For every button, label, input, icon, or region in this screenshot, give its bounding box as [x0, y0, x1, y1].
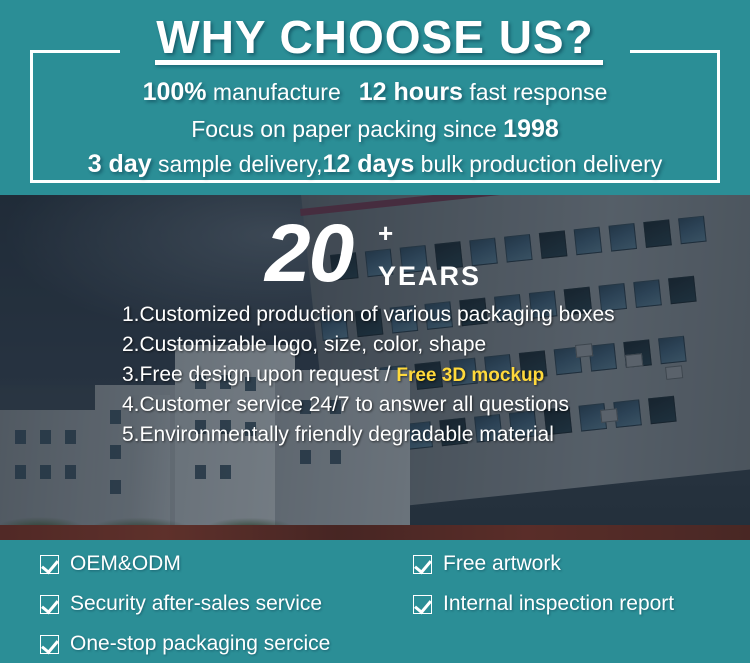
- feature-item: 4.Customer service 24/7 to answer all qu…: [122, 390, 615, 420]
- feature-item: 5.Environmentally friendly degradable ma…: [122, 420, 615, 450]
- why-choose-us-banner: WHY CHOOSE US? 100% manufacture12 hours …: [0, 0, 750, 663]
- checklist-item-label: OEM&ODM: [70, 552, 181, 576]
- check-icon: [40, 635, 59, 654]
- page-title: WHY CHOOSE US?: [0, 10, 750, 64]
- header-line3-part1: 3 day: [88, 150, 152, 178]
- check-icon: [40, 595, 59, 614]
- header-line1-part4: fast response: [463, 79, 607, 105]
- check-icon: [40, 555, 59, 574]
- title-underline: [155, 60, 603, 65]
- checklist: OEM&ODM Security after-sales service One…: [0, 540, 750, 663]
- feature-item: 2.Customizable logo, size, color, shape: [122, 330, 615, 360]
- header-line2-part2: 1998: [503, 115, 559, 143]
- feature-item-text: 3.Free design upon request /: [122, 363, 396, 386]
- feature-highlight-3d-mockup: Free 3D mockup: [396, 365, 544, 386]
- header-line-2: Focus on paper packing since 1998: [0, 115, 750, 144]
- checklist-item: Internal inspection report: [413, 592, 674, 616]
- feature-list: 1.Customized production of various packa…: [122, 300, 615, 450]
- header-line1-part3: 12 hours: [359, 78, 463, 106]
- footer-section: OEM&ODM Security after-sales service One…: [0, 540, 750, 663]
- checklist-item-label: Internal inspection report: [443, 592, 674, 616]
- checklist-item: Free artwork: [413, 552, 561, 576]
- checklist-item: One-stop packaging sercice: [40, 632, 330, 656]
- header-line3-part4: bulk production delivery: [414, 151, 662, 177]
- factory-photo-section: 20 + YEARS 1.Customized production of va…: [0, 195, 750, 540]
- header-line2-part1: Focus on paper packing since: [191, 116, 503, 142]
- feature-item: 3.Free design upon request / Free 3D moc…: [122, 360, 615, 390]
- check-icon: [413, 555, 432, 574]
- feature-item: 1.Customized production of various packa…: [122, 300, 615, 330]
- header-line3-part2: sample delivery,: [152, 151, 323, 177]
- header-line-3: 3 day sample delivery,12 days bulk produ…: [0, 150, 750, 179]
- check-icon: [413, 595, 432, 614]
- header-line1-part1: 100%: [143, 78, 207, 106]
- checklist-item: OEM&ODM: [40, 552, 181, 576]
- checklist-item-label: One-stop packaging sercice: [70, 632, 330, 656]
- header-section: WHY CHOOSE US? 100% manufacture12 hours …: [0, 0, 750, 195]
- checklist-item-label: Free artwork: [443, 552, 561, 576]
- header-line-1: 100% manufacture12 hours fast response: [0, 78, 750, 107]
- header-line3-part3: 12 days: [323, 150, 415, 178]
- checklist-item: Security after-sales service: [40, 592, 322, 616]
- experience-unit-label: YEARS: [378, 263, 481, 290]
- experience-plus-sign: +: [378, 220, 393, 246]
- experience-number: 20: [265, 213, 352, 295]
- header-line1-part2: manufacture: [207, 79, 341, 105]
- checklist-item-label: Security after-sales service: [70, 592, 322, 616]
